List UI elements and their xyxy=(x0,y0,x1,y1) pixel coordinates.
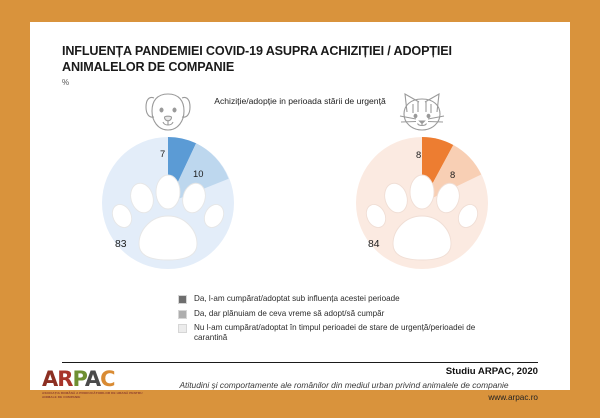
dog-head-icon xyxy=(140,90,196,136)
legend-item-bought-influenced: Da, l-am cumpărat/adoptat sub influența … xyxy=(178,294,508,304)
infographic-card: INFLUENȚA PANDEMIEI COVID-19 ASUPRA ACHI… xyxy=(30,22,570,390)
footer-divider xyxy=(62,362,538,363)
legend: Da, l-am cumpărat/adoptat sub influența … xyxy=(178,294,508,348)
arpac-logo-wordmark: ARPAC xyxy=(42,368,154,390)
legend-swatch-dark xyxy=(178,295,187,304)
poster-background: INFLUENȚA PANDEMIEI COVID-19 ASUPRA ACHI… xyxy=(0,0,600,418)
logo-letter-a1: A xyxy=(42,367,57,391)
arpac-logo: ARPAC ASOCIAȚIA ROMÂNĂ A PRODUCĂTORILOR … xyxy=(42,368,154,399)
legend-swatch-medium xyxy=(178,310,187,319)
cat-head-icon xyxy=(394,90,450,136)
legend-label-not-bought: Nu l-am cumpărat/adoptat în timpul perio… xyxy=(194,323,508,343)
legend-item-not-bought: Nu l-am cumpărat/adoptat în timpul perio… xyxy=(178,323,508,343)
pie-dog-wrap: 7 10 83 xyxy=(101,136,235,270)
header: INFLUENȚA PANDEMIEI COVID-19 ASUPRA ACHI… xyxy=(62,44,532,87)
logo-letter-a2: A xyxy=(85,367,100,391)
legend-label-bought-influenced: Da, l-am cumpărat/adoptat sub influența … xyxy=(194,294,400,304)
pie-dog-label-10: 10 xyxy=(193,168,203,179)
legend-label-planned-before: Da, dar plănuiam de ceva vreme să adopt/… xyxy=(194,309,384,319)
logo-letter-c: C xyxy=(100,367,114,391)
study-credit: Studiu ARPAC, 2020 xyxy=(446,366,538,377)
website-link[interactable]: www.arpac.ro xyxy=(488,393,538,402)
pie-cat-wrap: 8 8 84 xyxy=(355,136,489,270)
page-title: INFLUENȚA PANDEMIEI COVID-19 ASUPRA ACHI… xyxy=(62,44,532,75)
legend-item-planned-before: Da, dar plănuiam de ceva vreme să adopt/… xyxy=(178,309,508,319)
pie-chart-cat: 8 8 84 xyxy=(332,90,512,280)
logo-letter-r: R xyxy=(57,367,72,391)
arpac-logo-subtitle: ASOCIAȚIA ROMÂNĂ A PRODUCĂTORILOR DE HRA… xyxy=(42,391,154,399)
pie-cat-label-84: 84 xyxy=(368,239,380,250)
charts-area: 7 10 83 xyxy=(30,90,570,280)
logo-letter-p: P xyxy=(72,367,84,391)
pie-dog-label-83: 83 xyxy=(115,239,127,250)
percent-unit-label: % xyxy=(62,78,532,87)
pie-chart-dog: 7 10 83 xyxy=(78,90,258,280)
pie-dog-label-7: 7 xyxy=(160,148,165,159)
study-title: Studiu ARPAC, 2020 xyxy=(446,366,538,377)
study-subtitle: Atitudini și comportamente ale românilor… xyxy=(150,380,538,390)
pie-cat-label-8b: 8 xyxy=(450,169,455,180)
footer: ARPAC ASOCIAȚIA ROMÂNĂ A PRODUCĂTORILOR … xyxy=(30,366,570,412)
pie-cat-label-8a: 8 xyxy=(416,149,421,160)
legend-swatch-light xyxy=(178,324,187,333)
